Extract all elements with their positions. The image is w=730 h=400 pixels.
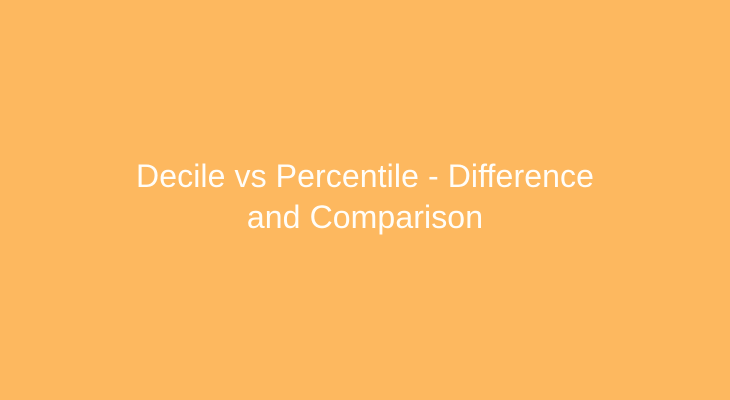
article-featured-image-banner: Decile vs Percentile - Difference and Co… xyxy=(0,0,730,400)
page-title: Decile vs Percentile - Difference and Co… xyxy=(105,156,625,238)
banner-title-wrap: Decile vs Percentile - Difference and Co… xyxy=(105,156,625,238)
